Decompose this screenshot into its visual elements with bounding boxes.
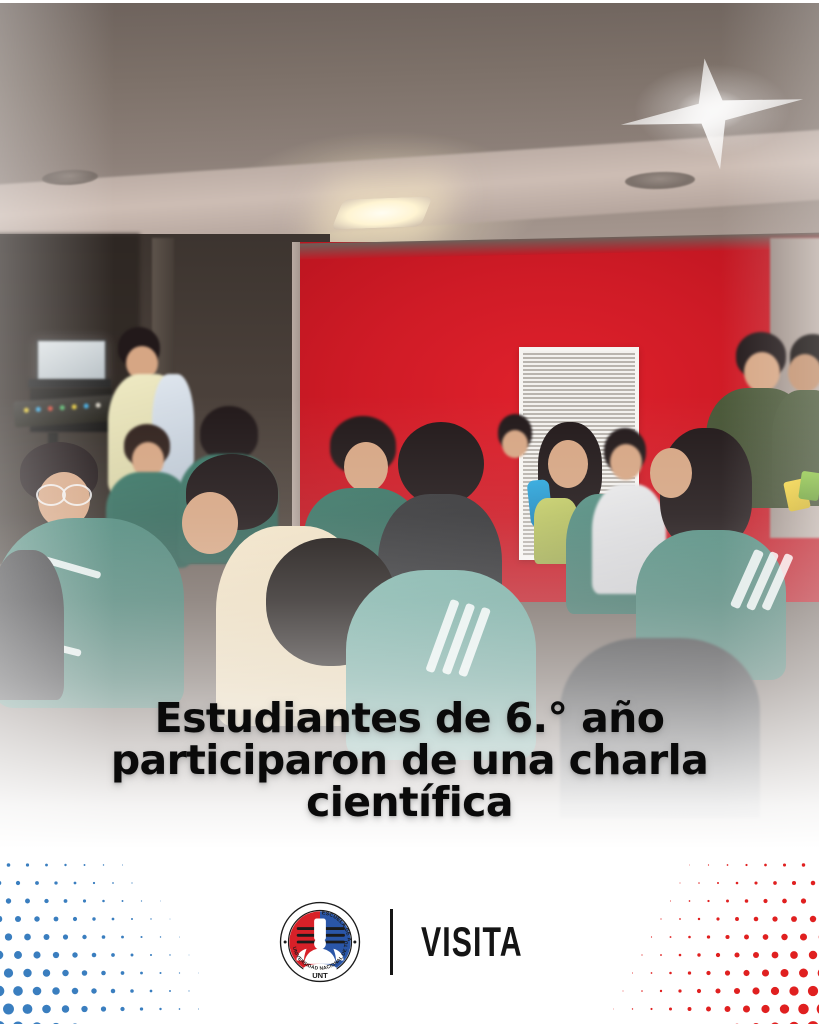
laptop-base [28, 379, 111, 388]
person-row3-b-hair [200, 406, 258, 460]
person-right-girl-face [650, 448, 692, 498]
handheld-green-object [798, 471, 819, 502]
person-center-girl-face [548, 440, 588, 488]
person-row3-c-face [344, 442, 388, 492]
ceiling-led-panel-light [331, 196, 432, 229]
headline-line-1: Estudiantes de 6.° año [40, 697, 779, 739]
person-row2-b-face [610, 444, 642, 480]
person-standing-2-face [788, 354, 819, 392]
headline-line-3: científica [40, 781, 779, 823]
top-edge-strip [0, 0, 819, 3]
poster-canvas: Estudiantes de 6.° año participaron de u… [0, 0, 819, 1024]
brand-divider [390, 909, 393, 975]
svg-text:UNT: UNT [312, 971, 328, 980]
footer-branding: ESCUELA DE AGRICULTURA Y SACAROTECNIA UN… [0, 892, 819, 992]
person-standing-1-face [744, 352, 780, 392]
headline-text: Estudiantes de 6.° año participaron de u… [0, 697, 819, 823]
visita-label: VISITA [421, 921, 507, 963]
person-fg-b-face [182, 492, 238, 554]
eyeglasses-icon-right [62, 484, 92, 506]
person-fg-dark-sleeve [0, 550, 64, 700]
unt-seal-logo-icon: ESCUELA DE AGRICULTURA Y SACAROTECNIA UN… [278, 900, 362, 984]
person-row2-a-face [502, 430, 528, 458]
headline-line-2: participaron de una charla [40, 739, 779, 781]
laptop-screen [36, 339, 107, 383]
